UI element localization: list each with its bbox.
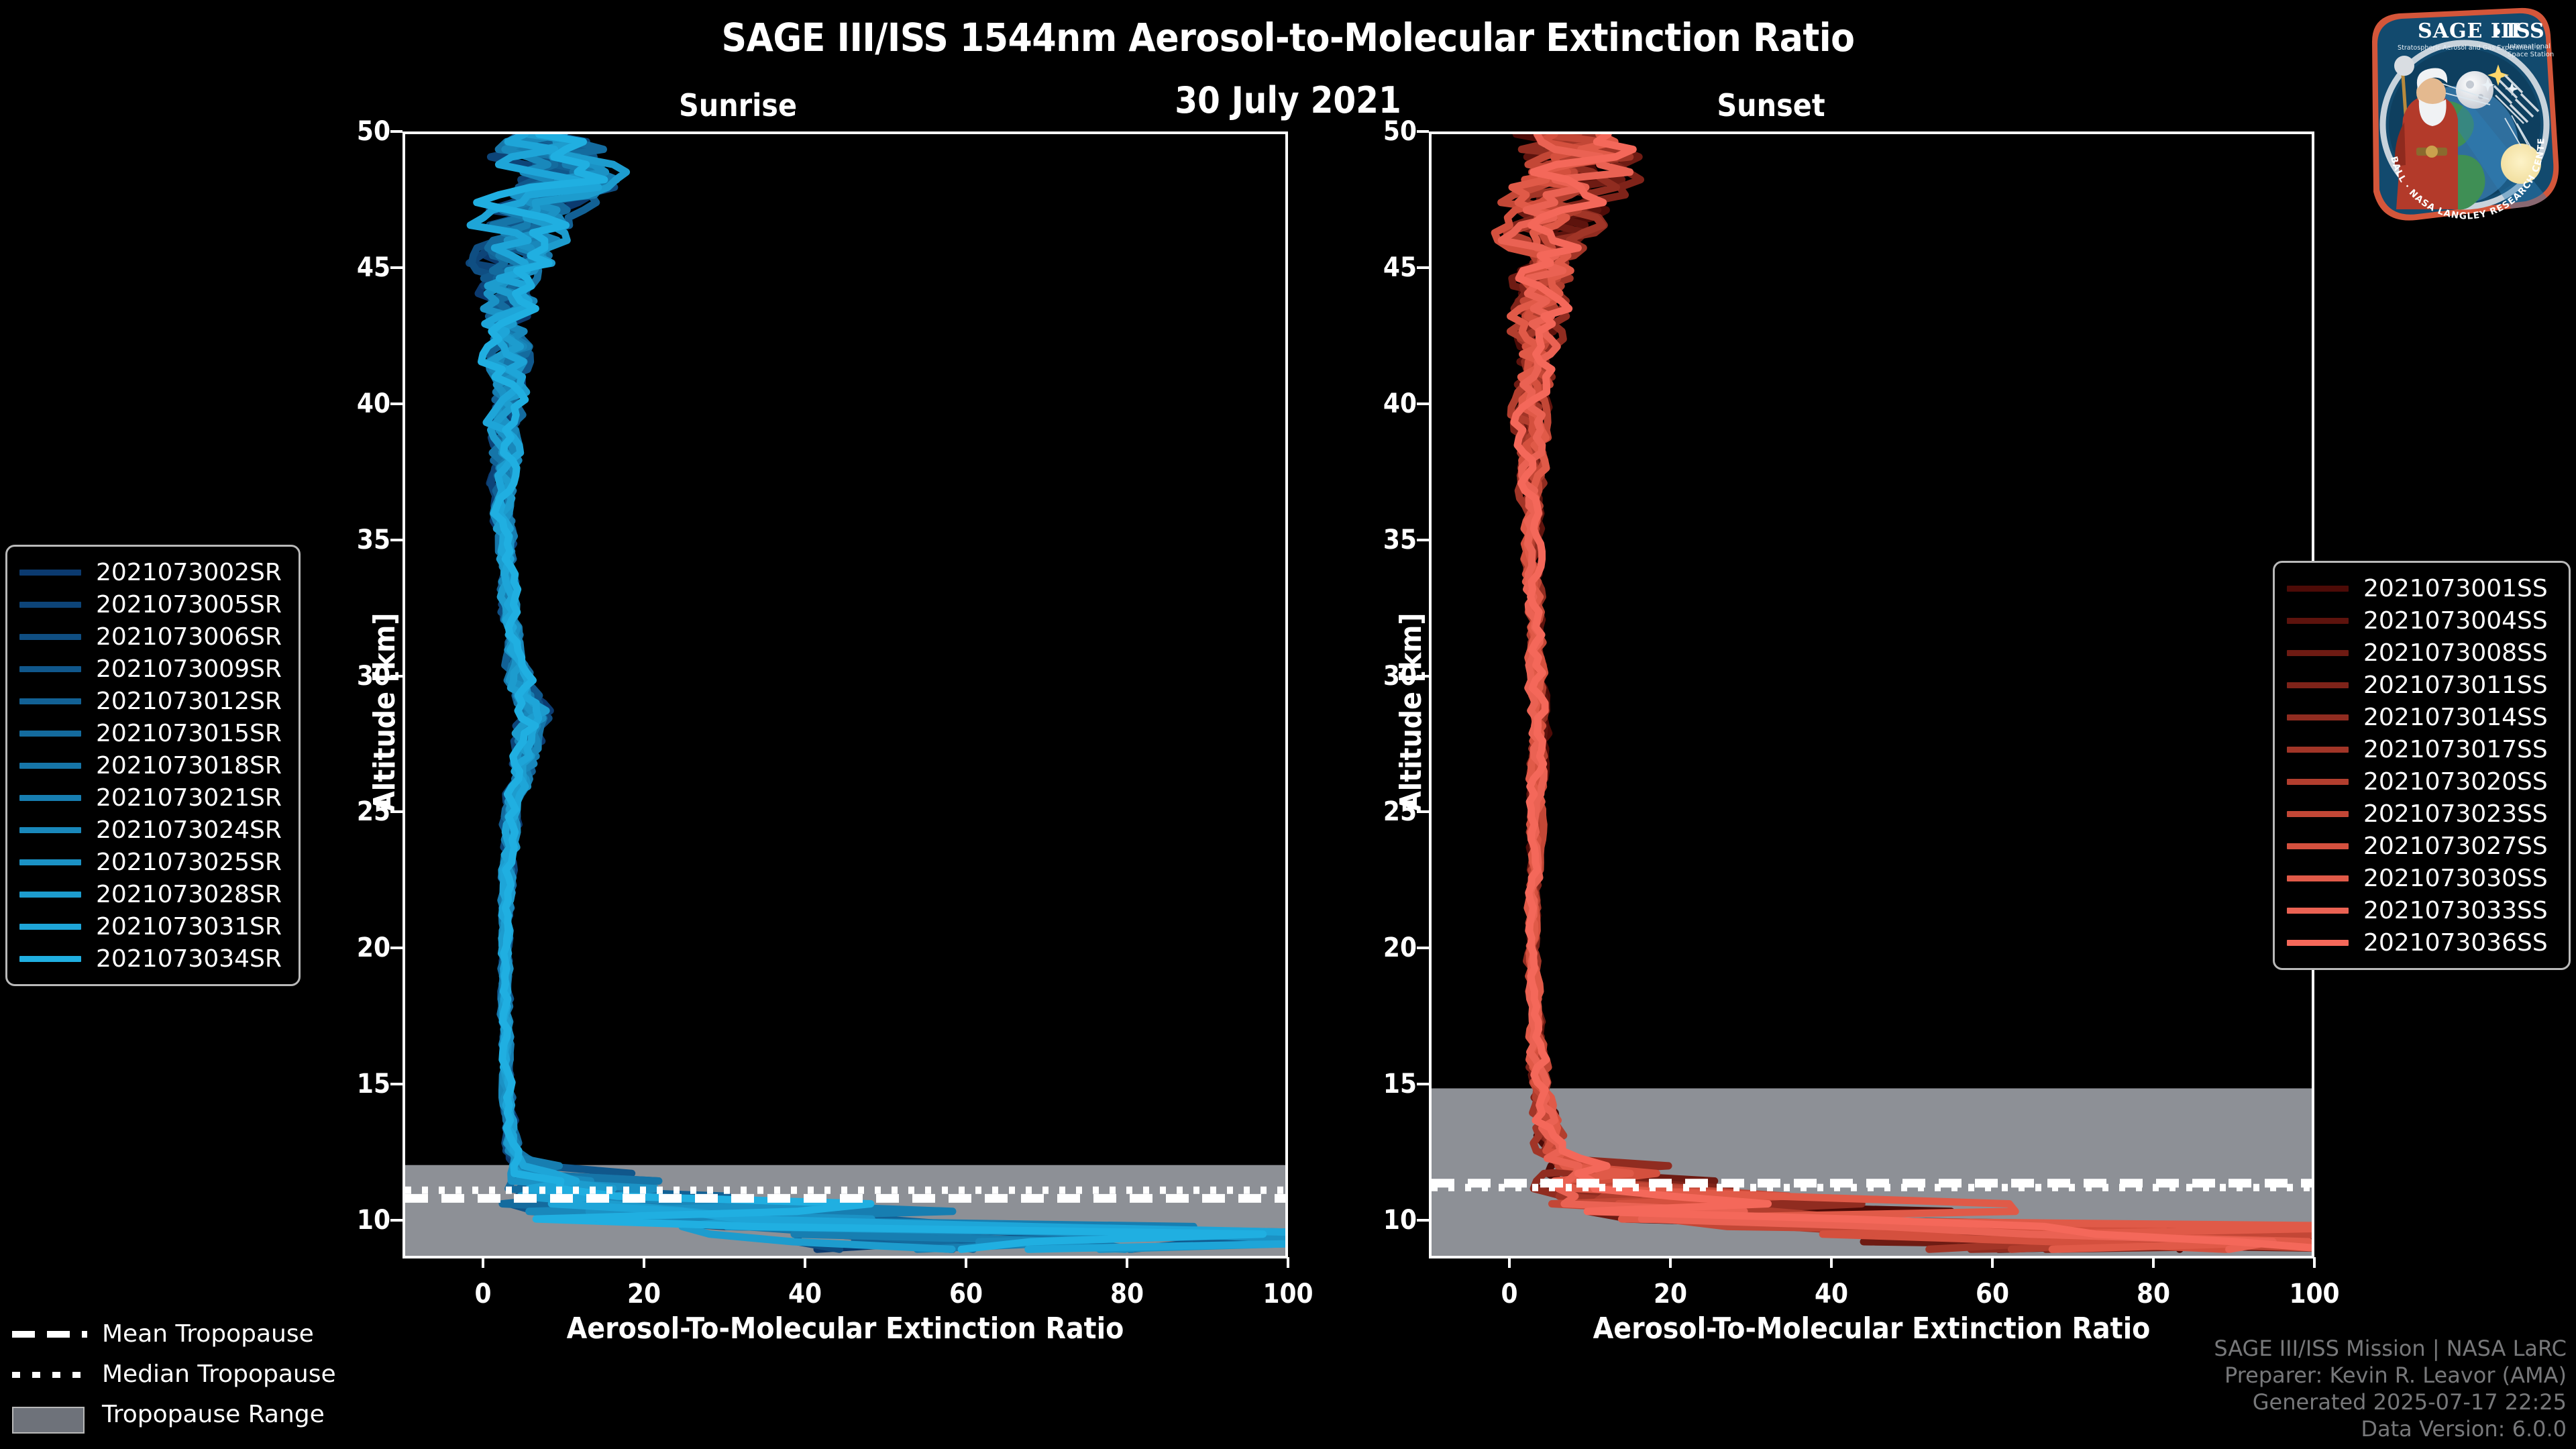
legend-item-2021073034SR[interactable]: 2021073034SR [19,943,286,975]
profile-line-2021073005SR [470,134,1148,1249]
profile-line-2021073030SS [1511,134,2312,1249]
legend-item-label: 2021073030SS [2363,865,2548,892]
legend-item-2021073033SS[interactable]: 2021073033SS [2287,894,2557,926]
profile-line-2021073028SR [488,134,952,1249]
legend-item-2021073017SS[interactable]: 2021073017SS [2287,733,2557,765]
sage-iii-iss-mission-patch-logo: SAGE III ISS Stratospheric Aerosol and G… [2352,4,2567,225]
x-tick-mark-40 [804,1257,806,1268]
tropopause-key-item-median: Median Tropopause [12,1354,388,1394]
x-tick-label-40: 40 [1815,1279,1848,1309]
legend-color-swatch [2287,714,2349,720]
tropopause-legend: Mean TropopauseMedian TropopauseTropopau… [12,1313,388,1434]
y-tick-mark-45 [1417,266,1429,269]
y-tick-mark-40 [1417,402,1429,405]
legend-color-swatch [19,859,81,865]
legend-item-label: 2021073027SS [2363,833,2548,860]
x-tick-mark-60 [1991,1257,1994,1268]
legend-color-swatch [19,731,81,737]
x-tick-mark-0 [1508,1257,1511,1268]
legend-item-2021073014SS[interactable]: 2021073014SS [2287,701,2557,733]
tropopause-key-label: Tropopause Range [102,1401,325,1428]
legend-color-swatch [19,602,81,608]
y-tick-mark-50 [390,130,402,133]
credits-line-preparer: Preparer: Kevin R. Leavor (AMA) [2214,1362,2567,1389]
tropopause-key-marker-mean [12,1326,87,1341]
legend-item-label: 2021073006SR [96,623,282,651]
legend-item-label: 2021073021SR [96,784,282,812]
profile-line-2021073036SS [1514,134,2312,1249]
y-tick-label-20: 20 [1383,932,1417,963]
y-tick-label-35: 35 [357,525,390,555]
x-tick-mark-40 [1830,1257,1833,1268]
profile-line-2021073006SR [472,134,1000,1249]
credits-line-mission: SAGE III/ISS Mission | NASA LaRC [2214,1335,2567,1362]
legend-item-label: 2021073017SS [2363,736,2548,763]
y-tick-label-10: 10 [1383,1205,1417,1236]
y-tick-mark-10 [390,1219,402,1222]
legend-color-swatch [2287,618,2349,624]
tropopause-key-glyph-median [12,1372,87,1378]
sunrise-plot-canvas [405,134,1285,1256]
y-tick-mark-35 [1417,539,1429,541]
profile-line-2021073027SS [1495,134,2226,1249]
sunrise-x-axis: 020406080100 [402,1267,1288,1313]
sunset-x-axis-label: Aerosol-To-Molecular Extinction Ratio [1429,1311,2314,1346]
patch-subtitle-right-1: International [2508,43,2551,50]
x-tick-mark-100 [2313,1257,2316,1268]
y-tick-label-35: 35 [1383,525,1417,555]
x-tick-mark-100 [1287,1257,1289,1268]
x-tick-mark-80 [1126,1257,1128,1268]
legend-color-swatch [2287,779,2349,785]
tropopause-key-marker-median [12,1366,87,1381]
legend-item-label: 2021073005SR [96,591,282,619]
legend-color-swatch [19,795,81,801]
x-tick-label-0: 0 [474,1279,491,1309]
tropopause-key-item-mean: Mean Tropopause [12,1313,388,1354]
x-tick-label-60: 60 [949,1279,983,1309]
legend-item-label: 2021073028SR [96,881,282,908]
legend-color-swatch [19,924,81,930]
x-tick-label-80: 80 [1110,1279,1144,1309]
legend-item-2021073027SS[interactable]: 2021073027SS [2287,830,2557,862]
legend-item-label: 2021073034SR [96,945,282,973]
legend-color-swatch [19,763,81,769]
legend-item-label: 2021073004SS [2363,607,2548,635]
tropopause-key-glyph-range [12,1407,85,1434]
legend-item-label: 2021073009SR [96,655,282,683]
legend-color-swatch [2287,875,2349,881]
sunset-legend[interactable]: 2021073001SS2021073004SS2021073008SS2021… [2273,561,2571,970]
tropopause-key-label: Mean Tropopause [102,1320,314,1348]
x-tick-label-40: 40 [788,1279,822,1309]
profile-line-2021073017SS [1518,134,2070,1249]
y-tick-label-50: 50 [1383,116,1417,147]
y-tick-mark-35 [390,539,402,541]
legend-color-swatch [19,666,81,672]
y-tick-label-10: 10 [357,1205,390,1236]
y-tick-label-15: 15 [1383,1069,1417,1099]
profile-line-2021073021SR [488,134,1193,1249]
patch-moon-crater [2466,80,2474,89]
legend-color-swatch [2287,908,2349,914]
y-tick-label-20: 20 [357,932,390,963]
y-tick-mark-20 [1417,947,1429,949]
legend-item-label: 2021073018SR [96,752,282,780]
x-tick-label-80: 80 [2137,1279,2170,1309]
patch-title-dot [2493,28,2500,35]
profile-line-2021073015SR [488,134,973,1249]
legend-item-label: 2021073001SS [2363,575,2548,602]
y-tick-label-50: 50 [357,116,390,147]
x-tick-label-0: 0 [1501,1279,1517,1309]
legend-item-2021073012SR[interactable]: 2021073012SR [19,685,286,717]
x-tick-mark-0 [482,1257,484,1268]
legend-item-label: 2021073014SS [2363,704,2548,731]
sunrise-panel-title: Sunrise [604,87,872,123]
y-tick-mark-15 [390,1083,402,1085]
x-tick-label-20: 20 [627,1279,661,1309]
sunset-plot-area [1429,131,2314,1258]
profile-line-2021073009SR [484,134,1276,1249]
legend-item-2021073011SS[interactable]: 2021073011SS [2287,669,2557,701]
legend-item-label: 2021073020SS [2363,768,2548,796]
x-tick-mark-20 [643,1257,645,1268]
legend-color-swatch [2287,940,2349,946]
legend-item-2021073005SR[interactable]: 2021073005SR [19,588,286,621]
legend-item-2021073023SS[interactable]: 2021073023SS [2287,798,2557,830]
legend-item-label: 2021073011SS [2363,672,2548,699]
legend-item-label: 2021073015SR [96,720,282,747]
patch-belt-buckle [2426,146,2438,158]
y-tick-mark-20 [390,947,402,949]
legend-item-2021073028SR[interactable]: 2021073028SR [19,878,286,910]
tropopause-key-label: Median Tropopause [102,1360,336,1388]
legend-item-label: 2021073025SR [96,849,282,876]
patch-subtitle-right-2: Space Station [2508,51,2554,58]
x-tick-label-20: 20 [1654,1279,1687,1309]
y-tick-label-40: 40 [357,388,390,419]
legend-item-label: 2021073036SS [2363,929,2548,957]
credits-block: SAGE III/ISS Mission | NASA LaRC Prepare… [2214,1335,2567,1442]
legend-item-2021073001SS[interactable]: 2021073001SS [2287,572,2557,604]
profile-line-2021073033SS [1501,134,2273,1249]
legend-color-swatch [2287,747,2349,753]
profile-line-2021073018SR [492,134,1132,1249]
profile-line-2021073001SS [1516,134,2186,1249]
profile-line-2021073002SR [478,134,935,1249]
legend-item-label: 2021073008SS [2363,639,2548,667]
sunrise-x-axis-label: Aerosol-To-Molecular Extinction Ratio [402,1311,1288,1346]
page-title: SAGE III/ISS 1544nm Aerosol-to-Molecular… [0,15,2576,60]
y-tick-label-40: 40 [1383,388,1417,419]
patch-staff-orb [2394,56,2414,76]
x-tick-label-100: 100 [1263,1279,1313,1309]
y-tick-mark-50 [1417,130,1429,133]
legend-item-2021073008SS[interactable]: 2021073008SS [2287,637,2557,669]
profile-line-2021073023SS [1501,134,2312,1249]
legend-color-swatch [2287,650,2349,656]
legend-color-swatch [2287,586,2349,592]
legend-item-2021073030SS[interactable]: 2021073030SS [2287,862,2557,894]
legend-item-2021073020SS[interactable]: 2021073020SS [2287,765,2557,798]
legend-item-label: 2021073033SS [2363,897,2548,924]
x-tick-mark-20 [1669,1257,1672,1268]
legend-item-2021073015SR[interactable]: 2021073015SR [19,717,286,749]
profile-line-2021073011SS [1513,134,2312,1249]
legend-color-swatch [19,892,81,898]
legend-item-2021073031SR[interactable]: 2021073031SR [19,910,286,943]
legend-color-swatch [19,634,81,640]
tropopause-key-marker-range [12,1407,87,1421]
legend-item-label: 2021073023SS [2363,800,2548,828]
sunset-panel-title: Sunset [1637,87,1905,123]
y-tick-label-15: 15 [357,1069,390,1099]
y-tick-mark-45 [390,266,402,269]
legend-item-2021073021SR[interactable]: 2021073021SR [19,782,286,814]
legend-item-2021073006SR[interactable]: 2021073006SR [19,621,286,653]
legend-item-2021073036SS[interactable]: 2021073036SS [2287,926,2557,959]
sunrise-y-axis-label: Altitude [km] [368,612,402,812]
profile-line-2021073020SS [1507,134,2140,1249]
legend-color-swatch [19,827,81,833]
legend-item-label: 2021073024SR [96,816,282,844]
y-tick-label-45: 45 [357,252,390,283]
legend-color-swatch [19,570,81,576]
sunset-y-axis-label: Altitude [km] [1394,612,1428,812]
legend-item-label: 2021073012SR [96,688,282,715]
legend-color-swatch [19,956,81,962]
y-tick-mark-40 [390,402,402,405]
legend-color-swatch [2287,843,2349,849]
sunset-plot-canvas [1432,134,2312,1256]
profile-line-2021073024SR [488,134,1285,1249]
sunrise-legend[interactable]: 2021073002SR2021073005SR2021073006SR2021… [5,545,301,986]
legend-item-label: 2021073031SR [96,913,282,941]
profile-line-2021073008SS [1512,134,2312,1249]
credits-line-generated: Generated 2025-07-17 22:25 [2214,1389,2567,1415]
legend-color-swatch [2287,811,2349,817]
profile-line-2021073004SS [1518,134,2279,1249]
y-tick-mark-10 [1417,1219,1429,1222]
page-subtitle: 30 July 2021 [0,79,2576,121]
x-tick-mark-60 [965,1257,967,1268]
sunrise-plot-area [402,131,1288,1258]
legend-item-2021073002SR[interactable]: 2021073002SR [19,556,286,588]
profile-line-2021073014SS [1521,134,2312,1249]
x-tick-mark-80 [2152,1257,2155,1268]
x-tick-label-60: 60 [1976,1279,2009,1309]
sunset-x-axis: 020406080100 [1429,1267,2314,1313]
profile-line-2021073012SR [487,134,1285,1249]
y-tick-mark-15 [1417,1083,1429,1085]
legend-item-label: 2021073002SR [96,559,282,586]
legend-item-2021073024SR[interactable]: 2021073024SR [19,814,286,846]
legend-color-swatch [2287,682,2349,688]
profile-line-2021073031SR [470,134,1285,1249]
legend-color-swatch [19,698,81,704]
y-tick-label-45: 45 [1383,252,1417,283]
profile-line-2021073034SR [477,134,1263,1249]
legend-item-2021073025SR[interactable]: 2021073025SR [19,846,286,878]
x-tick-label-100: 100 [2289,1279,2339,1309]
legend-item-2021073018SR[interactable]: 2021073018SR [19,749,286,782]
tropopause-key-item-range: Tropopause Range [12,1394,388,1434]
legend-item-2021073009SR[interactable]: 2021073009SR [19,653,286,685]
tropopause-key-glyph-mean [12,1331,87,1338]
profile-line-2021073025SR [484,134,1285,1249]
credits-line-version: Data Version: 6.0.0 [2214,1415,2567,1442]
patch-title-text: SAGE III [2418,19,2521,43]
legend-item-2021073004SS[interactable]: 2021073004SS [2287,604,2557,637]
patch-title-iss-text: ISS [2506,19,2544,43]
